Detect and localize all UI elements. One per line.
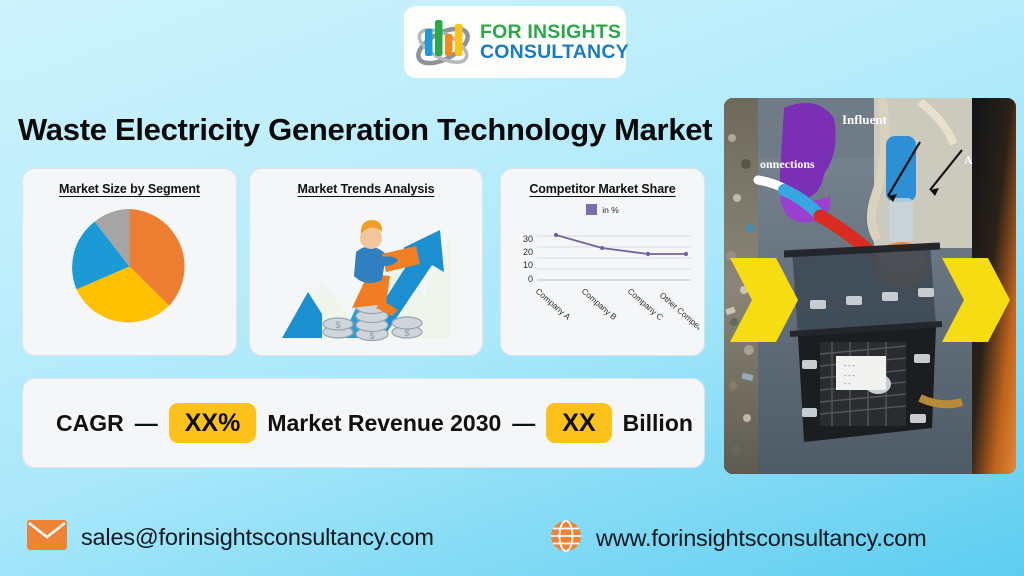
revenue-unit: Billion bbox=[623, 410, 693, 437]
kpi-bar: CAGR — XX% Market Revenue 2030 — XX Bill… bbox=[22, 378, 705, 468]
card-title-competitor-share: Competitor Market Share bbox=[501, 169, 704, 196]
photo-label-connections: onnections bbox=[760, 157, 815, 171]
card-competitor-market-share: Competitor Market Share in % 30 20 10 0 bbox=[500, 168, 705, 356]
svg-text:30: 30 bbox=[523, 234, 533, 244]
card-market-trends-analysis: Market Trends Analysis $$$ bbox=[249, 168, 483, 356]
svg-text:$: $ bbox=[369, 331, 374, 341]
revenue-value-badge: XX bbox=[546, 403, 611, 443]
brand-logo-line2: CONSULTANCY bbox=[480, 42, 629, 62]
svg-text:0: 0 bbox=[528, 274, 533, 284]
cagr-dash: — bbox=[135, 410, 158, 437]
card-title-market-trends: Market Trends Analysis bbox=[250, 169, 482, 196]
cagr-value-badge: XX% bbox=[169, 403, 257, 443]
footer-website-text[interactable]: www.forinsightsconsultancy.com bbox=[596, 525, 927, 552]
card-market-size-by-segment: Market Size by Segment bbox=[22, 168, 237, 356]
bar-chart-orbit-logo-icon bbox=[412, 13, 474, 71]
globe-icon bbox=[550, 520, 582, 557]
waste-to-energy-reactor-photo: - - -- - -- - Influent onnections A bbox=[724, 98, 1016, 474]
brand-logo-text: FOR INSIGHTS CONSULTANCY bbox=[480, 22, 629, 62]
svg-text:- -: - - bbox=[844, 381, 851, 388]
svg-text:- - -: - - - bbox=[844, 373, 856, 380]
legend-label-in-percent: in % bbox=[602, 205, 619, 215]
pie-chart bbox=[23, 196, 236, 336]
svg-text:10: 10 bbox=[523, 260, 533, 270]
photo-label-side: A bbox=[964, 153, 973, 167]
svg-text:Company C: Company C bbox=[626, 286, 666, 322]
footer-website[interactable]: www.forinsightsconsultancy.com bbox=[550, 520, 927, 557]
page-title: Waste Electricity Generation Technology … bbox=[18, 112, 778, 148]
envelope-icon bbox=[27, 520, 67, 555]
chart-legend: in % bbox=[501, 204, 704, 215]
svg-text:- - -: - - - bbox=[844, 363, 856, 370]
cagr-label: CAGR bbox=[56, 410, 124, 437]
growth-arrow-person-coins-icon: $$$ bbox=[250, 196, 482, 346]
svg-text:20: 20 bbox=[523, 247, 533, 257]
revenue-dash: — bbox=[512, 410, 535, 437]
footer-email[interactable]: sales@forinsightsconsultancy.com bbox=[27, 520, 434, 555]
brand-logo-line1: FOR INSIGHTS bbox=[480, 22, 629, 42]
card-title-market-size: Market Size by Segment bbox=[23, 169, 236, 196]
svg-text:Company B: Company B bbox=[580, 286, 620, 322]
svg-text:$: $ bbox=[335, 320, 340, 330]
svg-text:$: $ bbox=[404, 328, 409, 338]
legend-swatch-in-percent bbox=[586, 204, 597, 215]
photo-label-influent: Influent bbox=[842, 112, 887, 127]
brand-logo[interactable]: FOR INSIGHTS CONSULTANCY bbox=[404, 6, 626, 78]
footer-email-text[interactable]: sales@forinsightsconsultancy.com bbox=[81, 524, 434, 551]
line-chart: 30 20 10 0 Company A Company B Company C… bbox=[509, 226, 699, 351]
svg-text:Company A: Company A bbox=[534, 286, 573, 322]
revenue-label: Market Revenue 2030 bbox=[267, 410, 501, 437]
